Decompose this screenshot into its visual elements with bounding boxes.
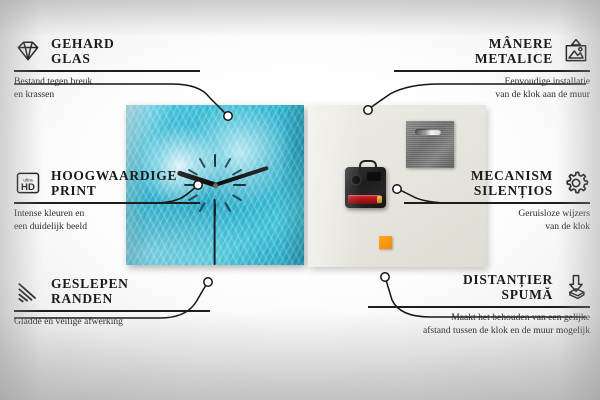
feature-mechanism-desc: Geruisloze wijzers van de klok	[404, 208, 590, 234]
feature-spacer-desc: Maakt het behouden van een gelijke afsta…	[368, 312, 590, 338]
feature-mechanism: MECANISM SILENȚIOS Geruisloze wijzers va…	[404, 168, 590, 233]
hour-mark	[214, 154, 216, 216]
feature-edges-desc: Gladde en veilige afwerking	[14, 316, 210, 329]
feature-glass: GEHARD GLAS Bestand tegen breuk en krass…	[14, 36, 200, 101]
hour-mark	[199, 158, 232, 213]
feature-edges: GESLEPEN RANDEN Gladde en veilige afwerk…	[14, 276, 210, 329]
mechanism-dial	[350, 174, 362, 186]
hanging-loop	[359, 160, 377, 172]
press-down-icon	[562, 273, 590, 301]
foam-spacer	[379, 236, 392, 249]
divider	[14, 310, 210, 311]
divider	[368, 306, 590, 307]
divider	[14, 202, 200, 203]
feature-print-desc: Intense kleuren en een duidelijk beeld	[14, 208, 200, 234]
hour-mark	[214, 154, 216, 216]
hour-mark	[199, 158, 232, 213]
battery	[348, 195, 381, 204]
feature-mechanism-title: MECANISM SILENȚIOS	[471, 168, 553, 198]
infographic-canvas: GEHARD GLAS Bestand tegen breuk en krass…	[0, 0, 600, 400]
feature-edges-title: GESLEPEN RANDEN	[51, 276, 129, 306]
hour-mark	[199, 158, 232, 213]
ultra-hd-icon: ultra HD	[14, 169, 42, 197]
feature-glass-title: GEHARD GLAS	[51, 36, 114, 66]
hour-mark	[199, 158, 232, 213]
keyhole-slot	[415, 129, 441, 135]
feature-spacer: DISTANȚIER SPUMĂ Maakt het behouden van …	[368, 272, 590, 337]
divider	[14, 70, 200, 71]
picture-hanger-icon	[562, 37, 590, 65]
feature-print: ultra HD HOOGWAARDIGE PRINT Intense kleu…	[14, 168, 200, 233]
diamond-icon	[14, 37, 42, 65]
clock-mechanism	[345, 167, 386, 208]
divider	[404, 202, 590, 203]
feature-print-title: HOOGWAARDIGE PRINT	[51, 168, 177, 198]
svg-text:HD: HD	[21, 182, 35, 193]
feature-handles: MÂNERE METALICE Eenvoudige installatie v…	[394, 36, 590, 101]
minute-hand	[214, 166, 268, 187]
beveled-edges-icon	[14, 277, 42, 305]
center-cap	[213, 183, 218, 188]
divider	[394, 70, 590, 71]
feature-handles-desc: Eenvoudige installatie van de klok aan d…	[394, 76, 590, 102]
feature-spacer-title: DISTANȚIER SPUMĂ	[463, 272, 553, 302]
feature-glass-desc: Bestand tegen breuk en krassen	[14, 76, 200, 102]
gear-icon	[562, 169, 590, 197]
metal-hanger-plate	[406, 121, 454, 168]
second-hand	[214, 199, 216, 265]
feature-handles-title: MÂNERE METALICE	[475, 36, 553, 66]
mechanism-housing	[367, 172, 381, 181]
